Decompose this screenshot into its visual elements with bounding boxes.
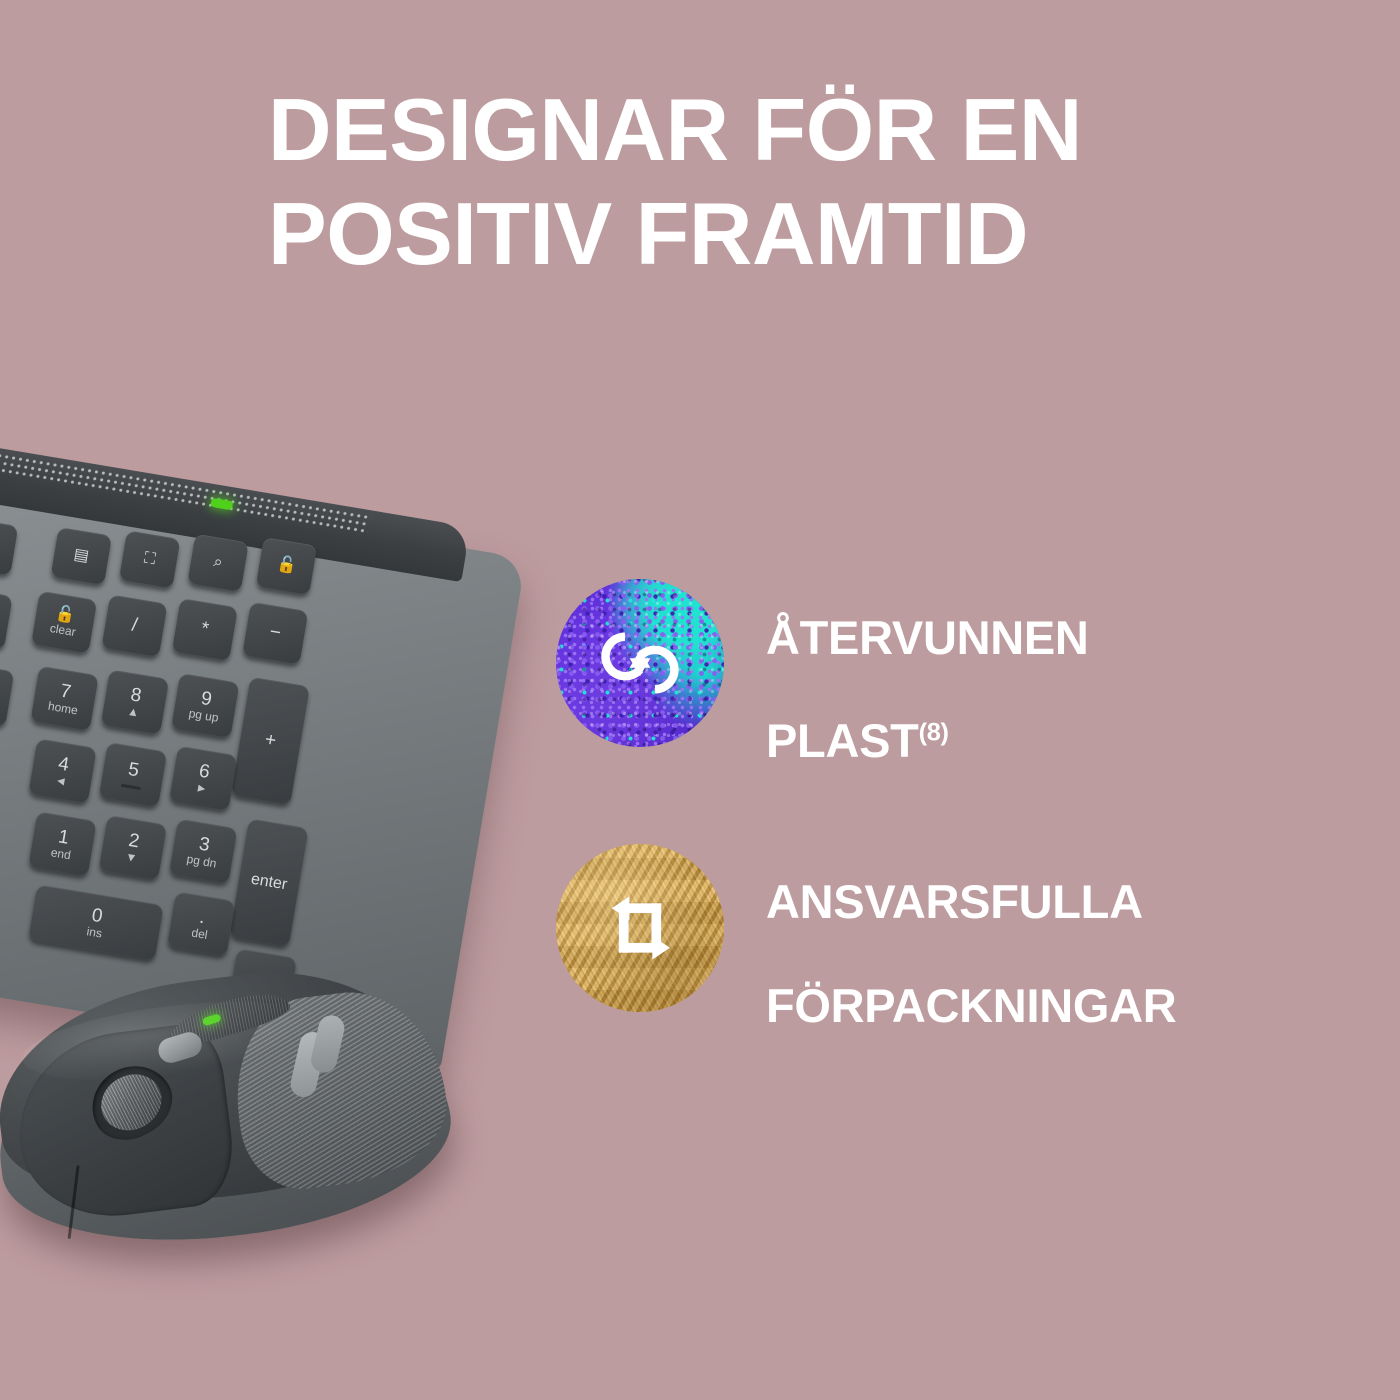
keyboard-key: ⌕ — [187, 534, 249, 592]
keyboard-key: * — [172, 598, 238, 661]
keyboard-key: / — [101, 594, 167, 657]
key-secondary-legend: del — [191, 926, 209, 941]
mouse-status-led — [202, 1013, 222, 1026]
key-secondary-legend: pg dn — [186, 852, 218, 869]
keyboard-key: 7home — [30, 666, 98, 731]
key-primary-legend: 9 — [199, 689, 213, 710]
key-secondary-legend: end — [50, 846, 72, 862]
recycled-plastic-badge-circle — [556, 579, 724, 747]
key-secondary-legend: ◄ — [54, 774, 68, 788]
keyboard-key: 🔓 — [256, 537, 318, 595]
key-primary-legend: . — [198, 907, 206, 928]
badge-footnote-marker: (8) — [919, 718, 949, 746]
keyboard-key: − — [242, 602, 308, 665]
keyboard-key: 3pg dn — [169, 819, 237, 884]
key-primary-legend: 2 — [127, 831, 141, 852]
keyboard-key: 9pg up — [171, 673, 239, 738]
keyboard-key: 6► — [169, 746, 237, 811]
key-primary-legend: 6 — [197, 761, 211, 782]
badge-recycled-plastic: ÅTERVUNNEN PLAST(8) — [556, 560, 1256, 767]
keyboard-key: 5 — [99, 742, 167, 807]
key-primary-legend: / — [130, 616, 138, 637]
keyboard-key: 4◄ — [28, 738, 96, 803]
key-secondary-legend: clear — [49, 622, 77, 639]
key-primary-legend: 7 — [59, 681, 73, 702]
screenshot-icon: ⛶ — [143, 550, 157, 568]
recycled-plastic-label: ÅTERVUNNEN PLAST(8) — [766, 560, 1089, 767]
keyboard-key: 8▲ — [101, 669, 169, 734]
homing-bump — [121, 784, 141, 790]
key-primary-legend: 1 — [57, 827, 71, 848]
marketing-canvas: DESIGNAR FÖR EN POSITIV FRAMTID ▭2▭3▤⛶⌕🔓… — [0, 0, 1400, 1400]
keyboard-key: ⛶ — [119, 530, 181, 588]
badge-responsible-packaging: ANSVARSFULLA FÖRPACKNINGAR — [556, 825, 1256, 1032]
keyboard-key: 2▼ — [99, 815, 167, 880]
keyboard-key: .del — [167, 891, 235, 956]
key-primary-legend: * — [200, 619, 211, 640]
keyboard-key: page up — [0, 587, 13, 650]
page-title: DESIGNAR FÖR EN POSITIV FRAMTID — [268, 78, 1168, 286]
key-primary-legend: − — [268, 622, 282, 643]
key-word-legend: enter — [250, 871, 289, 894]
product-imagery: ▭2▭3▤⛶⌕🔓↻inshomepage up🔓clear/*−deleteen… — [0, 420, 600, 1280]
key-primary-legend: + — [263, 730, 277, 751]
key-secondary-legend: home — [47, 699, 79, 716]
key-secondary-legend: ins — [86, 925, 103, 940]
keyboard-key: 0ins — [28, 884, 163, 960]
keyboard-key: ▤ — [51, 527, 113, 585]
keyboard-key: enter — [230, 818, 309, 946]
responsible-packaging-label: ANSVARSFULLA FÖRPACKNINGAR — [766, 825, 1176, 1032]
key-primary-legend: 3 — [197, 834, 211, 855]
lock-icon: 🔓 — [275, 556, 297, 576]
key-secondary-legend: pg up — [188, 707, 220, 724]
keyboard-key: + — [231, 677, 310, 805]
key-primary-legend: 5 — [127, 759, 141, 780]
key-secondary-legend: ▼ — [124, 850, 138, 864]
keyboard-key: ▭3 — [0, 517, 18, 575]
search-icon: ⌕ — [212, 554, 224, 572]
wireless-mouse — [0, 932, 477, 1287]
responsible-packaging-badge-circle — [556, 844, 724, 1012]
keyboard-key: page down — [0, 662, 14, 727]
key-primary-legend: 0 — [90, 906, 104, 927]
keyboard-key: 1end — [28, 811, 96, 876]
badge-label-line1: ÅTERVUNNEN — [766, 611, 1089, 664]
key-primary-legend: 4 — [57, 754, 71, 775]
key-secondary-legend: ► — [195, 781, 209, 795]
calculator-icon: ▤ — [72, 547, 90, 566]
key-secondary-legend: ▲ — [126, 705, 140, 719]
badge-label-line2: FÖRPACKNINGAR — [766, 979, 1176, 1032]
recycling-loop-icon — [556, 579, 724, 747]
sustainability-badge-list: ÅTERVUNNEN PLAST(8) — [556, 560, 1256, 1090]
key-word-legend: page down — [0, 675, 2, 714]
badge-label-line2: PLAST — [766, 714, 919, 767]
keyboard-key: 🔓clear — [31, 591, 97, 654]
key-primary-legend: 8 — [129, 685, 143, 706]
badge-label-line1: ANSVARSFULLA — [766, 875, 1143, 928]
repeat-square-arrows-icon — [556, 844, 724, 1012]
